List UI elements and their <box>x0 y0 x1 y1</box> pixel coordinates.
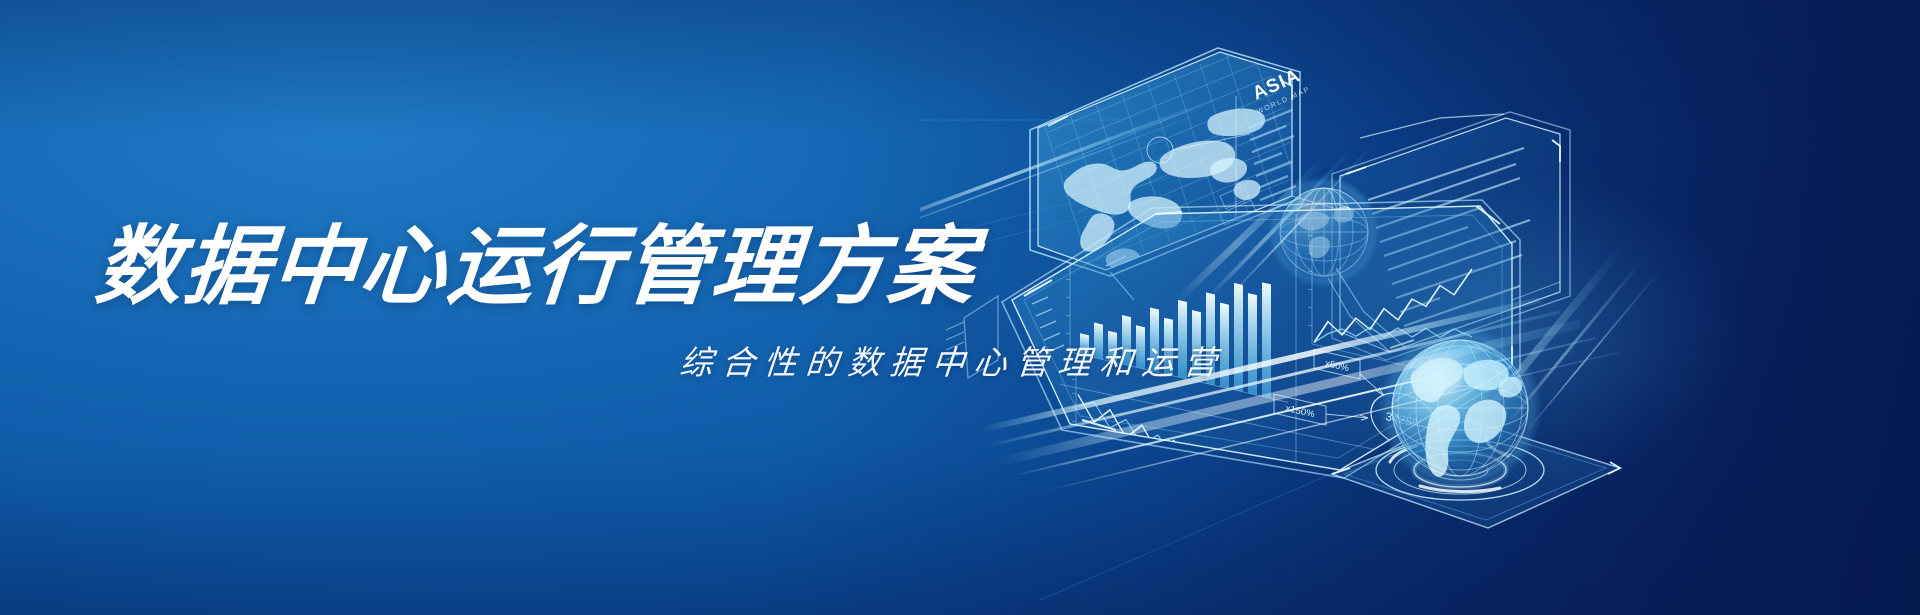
hero-graphic: ASIA WORLD MAP <box>920 0 1920 615</box>
left-hud-bracket <box>946 296 998 378</box>
holographic-illustration: ASIA WORLD MAP <box>920 0 1920 615</box>
hero-banner: ASIA WORLD MAP <box>0 0 1920 615</box>
